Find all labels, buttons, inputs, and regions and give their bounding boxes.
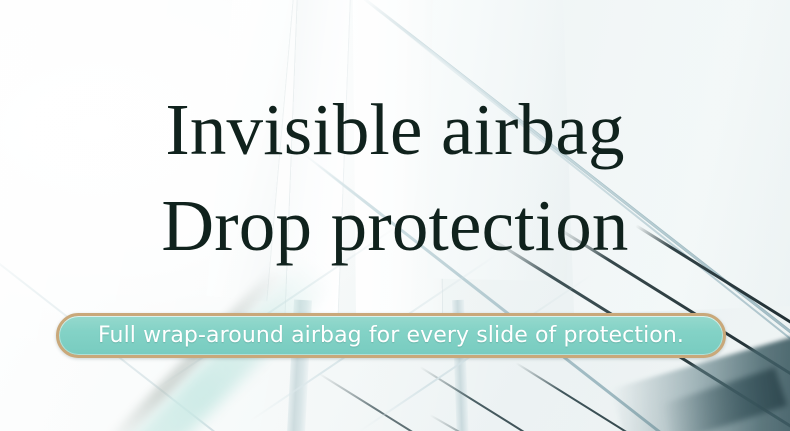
- headline-line-1: Invisible airbag: [0, 82, 790, 178]
- headline-line-2: Drop protection: [0, 178, 790, 274]
- promo-banner: Invisible airbag Drop protection Full wr…: [0, 0, 790, 431]
- subtitle-pill-wrapper: Full wrap-around airbag for every slide …: [56, 313, 726, 358]
- subtitle-pill: Full wrap-around airbag for every slide …: [56, 313, 726, 358]
- banner-content: Invisible airbag Drop protection Full wr…: [0, 0, 790, 431]
- headline: Invisible airbag Drop protection: [0, 82, 790, 275]
- subtitle-text: Full wrap-around airbag for every slide …: [98, 323, 684, 348]
